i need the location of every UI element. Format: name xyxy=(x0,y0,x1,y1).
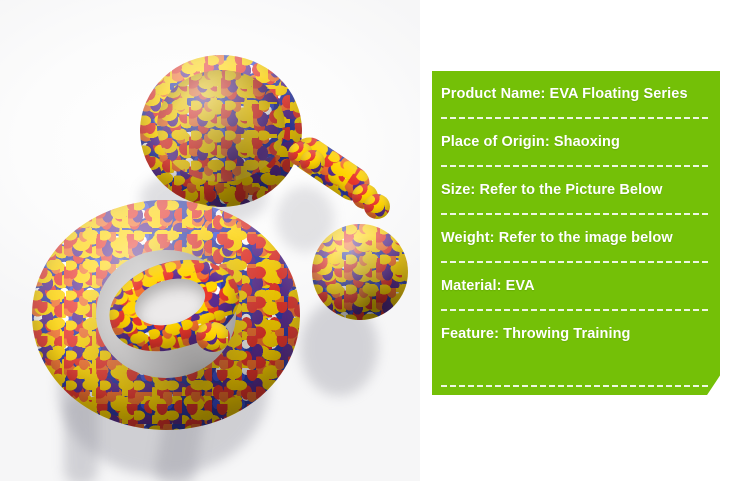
product-banner: Product Name: EVA Floating Series Place … xyxy=(0,0,750,481)
spec-row-material: Material: EVA xyxy=(432,263,720,309)
toy-ball xyxy=(312,224,408,320)
spec-row-weight: Weight: Refer to the image below xyxy=(432,215,720,261)
spec-row-size: Size: Refer to the Picture Below xyxy=(432,167,720,213)
spec-row-place-of-origin: Place of Origin: Shaoxing xyxy=(432,119,720,165)
toy-flying-disc-well xyxy=(157,70,285,182)
spec-label-feature: Feature: Throwing Training xyxy=(441,326,631,342)
toy-bone-knob-bottom-b xyxy=(364,194,390,219)
spec-label-product-name: Product Name: EVA Floating Series xyxy=(441,86,688,102)
spec-row-feature: Feature: Throwing Training xyxy=(432,311,720,357)
specification-panel: Product Name: EVA Floating Series Place … xyxy=(432,71,720,395)
toy-bone-knob-top-b xyxy=(300,150,325,174)
spec-label-material: Material: EVA xyxy=(441,278,535,294)
spec-label-weight: Weight: Refer to the image below xyxy=(441,230,673,246)
spec-row-product-name: Product Name: EVA Floating Series xyxy=(432,71,720,117)
spec-tail-gap xyxy=(432,357,720,385)
specification-list: Product Name: EVA Floating Series Place … xyxy=(432,71,720,387)
spec-divider-6 xyxy=(441,385,710,387)
spec-label-place-of-origin: Place of Origin: Shaoxing xyxy=(441,134,620,150)
spec-label-size: Size: Refer to the Picture Below xyxy=(441,182,663,198)
toy-ring-handle-knob xyxy=(196,322,230,352)
product-photo xyxy=(0,0,420,481)
